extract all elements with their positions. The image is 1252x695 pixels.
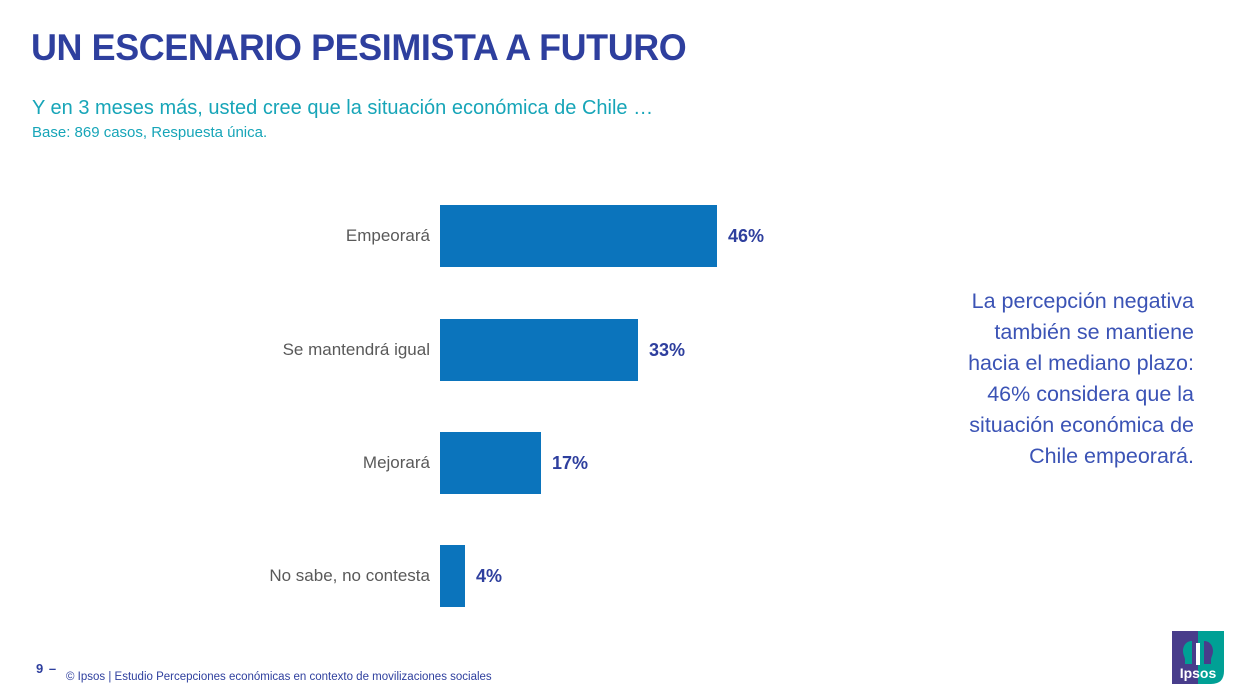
- chart-row: Empeorará 46%: [0, 205, 900, 267]
- bar-wrapper: 46%: [440, 205, 764, 267]
- bar-value-label: 33%: [649, 340, 685, 361]
- chart-row: Se mantendrá igual 33%: [0, 319, 900, 381]
- category-label: Se mantendrá igual: [0, 340, 440, 360]
- slide-subtitle: Y en 3 meses más, usted cree que la situ…: [32, 96, 653, 120]
- slide-base-note: Base: 869 casos, Respuesta única.: [32, 123, 267, 142]
- ipsos-wordmark: Ipsos: [1180, 665, 1217, 681]
- chart-row: No sabe, no contesta 4%: [0, 545, 900, 607]
- bar-no-sabe-no-contesta: [440, 545, 465, 607]
- page-number: 9 –: [36, 661, 57, 676]
- page-title: UN ESCENARIO PESIMISTA A FUTURO: [31, 26, 686, 70]
- category-label: Mejorará: [0, 453, 440, 473]
- bar-wrapper: 4%: [440, 545, 502, 607]
- bar-value-label: 4%: [476, 566, 502, 587]
- bar-empeorara: [440, 205, 717, 267]
- bar-value-label: 17%: [552, 453, 588, 474]
- bar-wrapper: 17%: [440, 432, 588, 494]
- commentary-text: La percepción negativa también se mantie…: [944, 286, 1194, 472]
- bar-se-mantendra-igual: [440, 319, 638, 381]
- bar-chart: Empeorará 46% Se mantendrá igual 33% Mej…: [0, 176, 900, 626]
- bar-wrapper: 33%: [440, 319, 685, 381]
- bar-mejorara: [440, 432, 541, 494]
- ipsos-logo: Ipsos: [1172, 631, 1224, 684]
- category-label: Empeorará: [0, 226, 440, 246]
- chart-row: Mejorará 17%: [0, 432, 900, 494]
- bar-value-label: 46%: [728, 226, 764, 247]
- footer-copyright: © Ipsos | Estudio Percepciones económica…: [66, 671, 492, 683]
- category-label: No sabe, no contesta: [0, 566, 440, 586]
